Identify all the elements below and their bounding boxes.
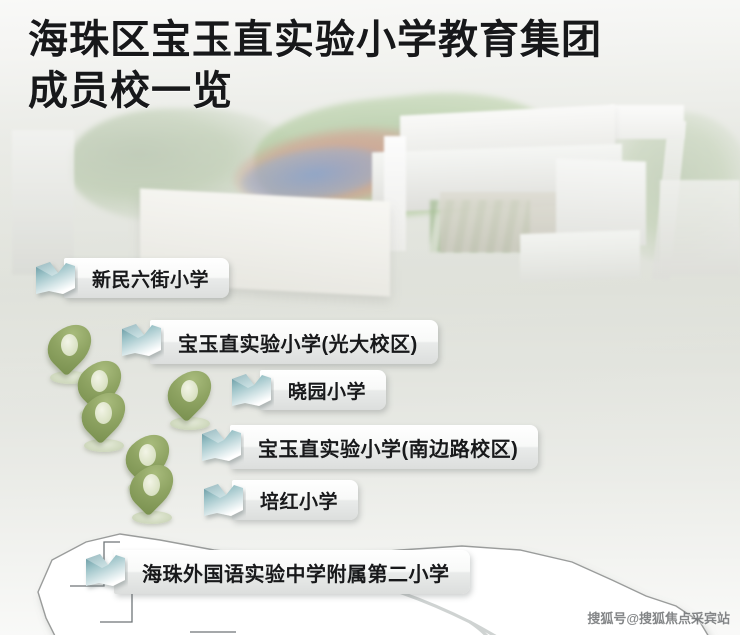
school-label-peihong[interactable]: 培红小学 [200, 480, 358, 520]
pin-hole [181, 380, 198, 402]
school-name-text: 海珠外国语实验中学附属第二小学 [142, 558, 450, 587]
label-plate: 宝玉直实验小学(南边路校区) [230, 425, 538, 469]
flag-icon [228, 370, 274, 414]
pin-shadow-base [132, 511, 172, 524]
school-label-xinmin-liujie[interactable]: 新民六街小学 [32, 258, 229, 298]
school-label-haizhu-waiguoyu[interactable]: 海珠外国语实验中学附属第二小学 [82, 550, 470, 594]
pin-hole [91, 370, 108, 392]
flag-icon [200, 480, 246, 524]
map-pin-icon[interactable] [168, 368, 212, 430]
flag-icon [118, 320, 164, 364]
label-plate: 培红小学 [232, 480, 358, 520]
school-name-text: 宝玉直实验小学(光大校区) [178, 328, 418, 357]
flag-icon-wrap [228, 370, 274, 410]
label-plate: 晓园小学 [260, 370, 386, 410]
school-name-text: 晓园小学 [288, 377, 366, 404]
flag-icon-wrap [200, 480, 246, 520]
label-plate: 新民六街小学 [64, 258, 229, 298]
map-pin-icon[interactable] [130, 462, 174, 524]
school-name-text: 新民六街小学 [92, 265, 209, 292]
pin-hole [61, 334, 78, 356]
flag-icon [198, 425, 244, 469]
flag-icon-wrap [32, 258, 78, 298]
school-name-text: 宝玉直实验小学(南边路校区) [258, 433, 518, 462]
label-plate: 宝玉直实验小学(光大校区) [150, 320, 438, 364]
poster-root: 海珠区宝玉直实验小学教育集团 成员校一览 新民六街小学宝玉直实验小学(光大校区)… [0, 0, 740, 635]
flag-icon-wrap [198, 425, 244, 469]
flag-icon [82, 550, 128, 594]
school-label-baoyuzhi-nanbianlu[interactable]: 宝玉直实验小学(南边路校区) [198, 425, 538, 469]
pin-shadow-base [84, 439, 124, 452]
school-label-xiaoyuan[interactable]: 晓园小学 [228, 370, 386, 410]
flag-icon-wrap [118, 320, 164, 364]
flag-icon [32, 258, 78, 302]
school-label-baoyuzhi-guangda[interactable]: 宝玉直实验小学(光大校区) [118, 320, 438, 364]
school-name-text: 培红小学 [260, 487, 338, 514]
flag-icon-wrap [82, 550, 128, 594]
poster-title: 海珠区宝玉直实验小学教育集团 成员校一览 [28, 14, 708, 116]
pin-hole [143, 474, 160, 496]
pin-hole [95, 402, 112, 424]
label-plate: 海珠外国语实验中学附属第二小学 [114, 550, 470, 594]
watermark: 搜狐号@搜狐焦点采宾站 [587, 608, 730, 627]
map-pin-icon[interactable] [82, 390, 126, 452]
